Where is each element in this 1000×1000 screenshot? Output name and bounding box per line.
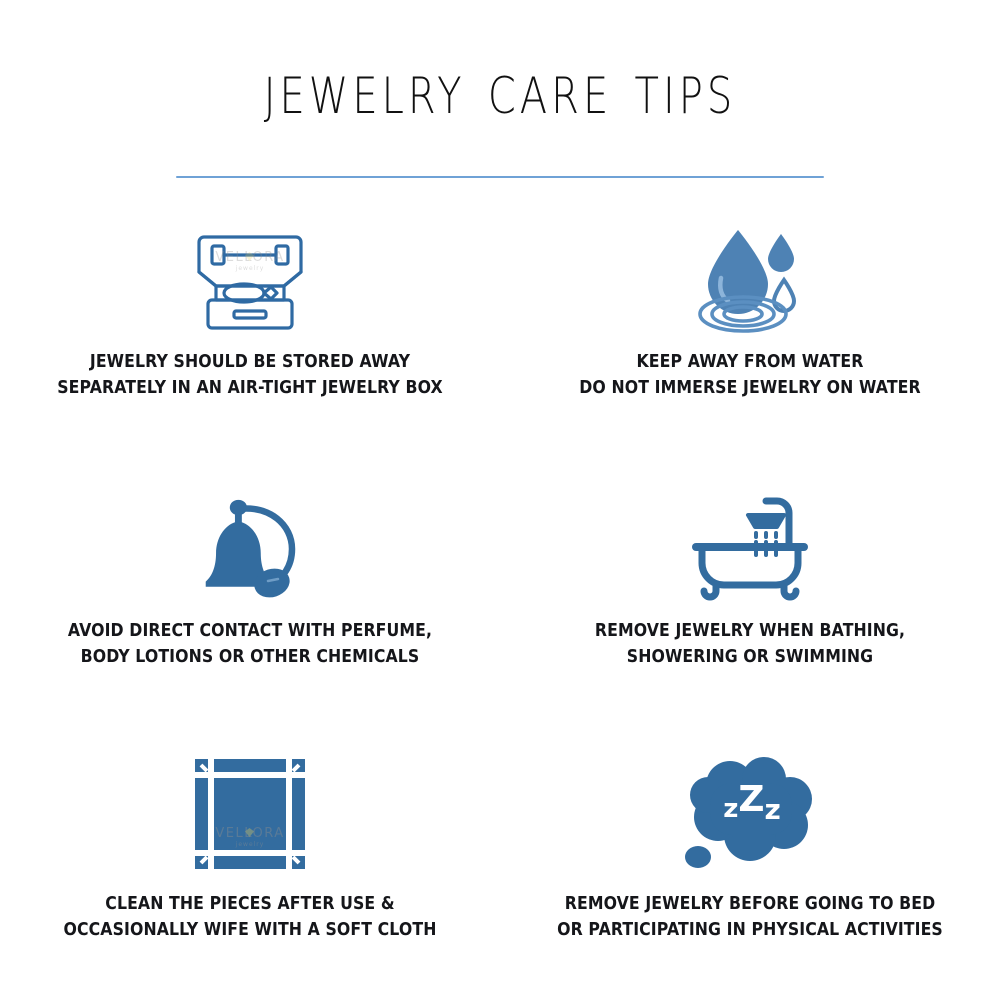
water-drop-icon — [675, 219, 825, 337]
tip-caption: REMOVE JEWELRY BEFORE GOING TO BED OR PA… — [557, 891, 944, 943]
caption-line: REMOVE JEWELRY BEFORE GOING TO BED — [557, 891, 944, 917]
caption-line: OCCASIONALLY WIFE WITH A SOFT CLOTH — [57, 917, 444, 943]
tip-caption: AVOID DIRECT CONTACT WITH PERFUME, BODY … — [57, 618, 444, 670]
bathtub-shower-icon — [675, 484, 825, 606]
caption-line: CLEAN THE PIECES AFTER USE & — [57, 891, 444, 917]
tip-caption: CLEAN THE PIECES AFTER USE & OCCASIONALL… — [57, 891, 444, 943]
caption-line: AVOID DIRECT CONTACT WITH PERFUME, — [57, 618, 444, 644]
tip-card-water: KEEP AWAY FROM WATER DO NOT IMMERSE JEWE… — [500, 205, 1000, 470]
page-title: Jewelry Care Tips — [100, 46, 900, 130]
sleep-cloud-zzz-icon: zZz — [675, 749, 825, 879]
tips-grid: VELLORA jewelry — [0, 205, 1000, 1000]
perfume-bottle-icon — [175, 484, 325, 606]
tip-card-bathing: REMOVE JEWELRY WHEN BATHING, SHOWERING O… — [500, 470, 1000, 735]
tip-card-perfume: AVOID DIRECT CONTACT WITH PERFUME, BODY … — [0, 470, 500, 735]
caption-line: DO NOT IMMERSE JEWELRY ON WATER — [557, 375, 944, 401]
jewelry-care-tips-poster: Jewelry Care Tips VELLORA jewelry — [0, 0, 1000, 1000]
tip-caption: KEEP AWAY FROM WATER DO NOT IMMERSE JEWE… — [557, 349, 944, 401]
caption-line: JEWELRY SHOULD BE STORED AWAY — [57, 349, 444, 375]
caption-line: OR PARTICIPATING IN PHYSICAL ACTIVITIES — [557, 917, 944, 943]
title-divider — [176, 176, 824, 178]
cleaning-cloth-icon: VELLORA jewelry — [175, 749, 325, 879]
caption-line: KEEP AWAY FROM WATER — [557, 349, 944, 375]
caption-line: REMOVE JEWELRY WHEN BATHING, — [557, 618, 944, 644]
caption-line: SHOWERING OR SWIMMING — [557, 644, 944, 670]
poster-header: Jewelry Care Tips — [0, 0, 1000, 200]
jewelry-box-icon: VELLORA jewelry — [175, 219, 325, 337]
tip-caption: REMOVE JEWELRY WHEN BATHING, SHOWERING O… — [557, 618, 944, 670]
tip-card-cleaning: VELLORA jewelry CLEAN THE P — [0, 735, 500, 1000]
tip-card-sleep: zZz REMOVE JEWELRY BEFORE GOING TO BED O… — [500, 735, 1000, 1000]
tip-caption: JEWELRY SHOULD BE STORED AWAY SEPARATELY… — [57, 349, 444, 401]
caption-line: BODY LOTIONS OR OTHER CHEMICALS — [57, 644, 444, 670]
caption-line: SEPARATELY IN AN AIR-TIGHT JEWELRY BOX — [57, 375, 444, 401]
tip-card-storage: VELLORA jewelry — [0, 205, 500, 470]
